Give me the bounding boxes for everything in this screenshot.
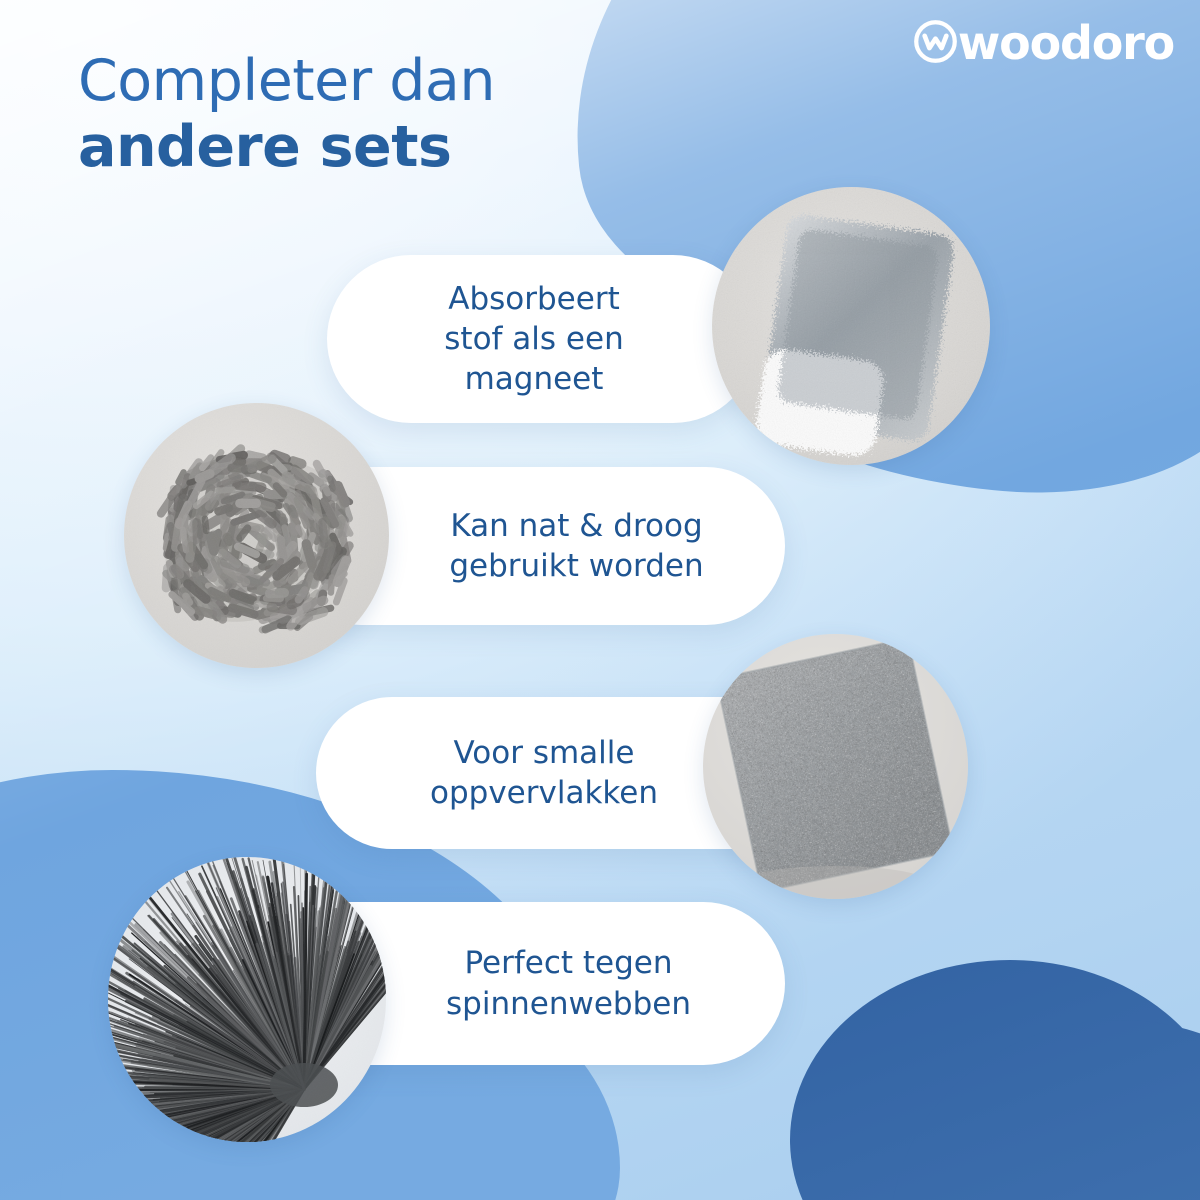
page-title: Completer dan andere sets [78, 52, 495, 176]
feature-card-1-text: Absorbeert stof als een magneet [444, 279, 623, 400]
title-line-bold: andere sets [78, 118, 495, 176]
feature-image-2 [124, 403, 389, 668]
promo-graphic: woodoro Completer dan andere sets [0, 0, 1200, 1200]
brand-wordmark: woodoro [958, 20, 1174, 66]
feature-image-1 [712, 187, 990, 465]
circled-w-monogram-icon [912, 18, 959, 65]
title-line-regular: Completer dan [78, 52, 495, 110]
brand-logo: woodoro [912, 18, 1178, 65]
feature-card-3-text: Voor smalle oppvervlakken [430, 733, 658, 814]
feature-card-2-text: Kan nat & droog gebruikt worden [449, 506, 703, 587]
feature-card-4-text: Perfect tegen spinnenwebben [446, 943, 691, 1024]
feature-card-1[interactable]: Absorbeert stof als een magneet [327, 255, 757, 423]
feature-image-4 [108, 857, 386, 1142]
feature-image-3 [703, 634, 968, 899]
